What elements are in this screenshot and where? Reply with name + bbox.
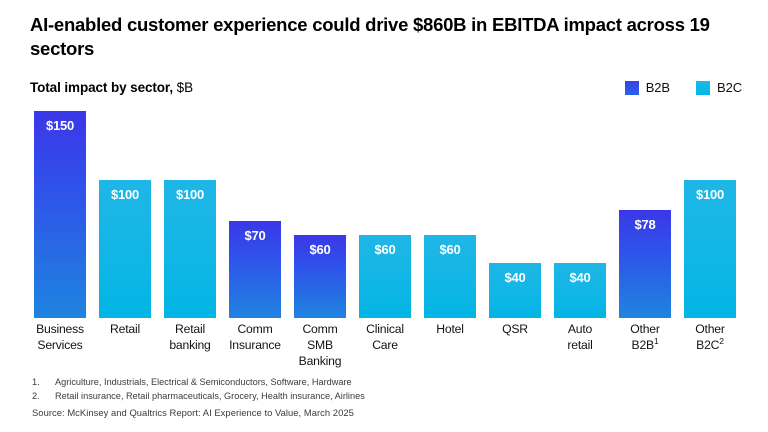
bar-column: $78: [619, 210, 671, 318]
bar-value-label: $100: [164, 187, 216, 202]
x-axis-label: CommSMBBanking: [294, 321, 346, 370]
bar-column: $100: [684, 180, 736, 318]
chart-subtitle-text: Total impact by sector,: [30, 80, 177, 95]
bar-column: $60: [359, 235, 411, 318]
bar[interactable]: $60: [294, 235, 346, 318]
footnote-item: 2.Retail insurance, Retail pharmaceutica…: [32, 389, 732, 403]
bar[interactable]: $100: [684, 180, 736, 318]
page-title: AI-enabled customer experience could dri…: [30, 13, 730, 61]
footnote-number: 1.: [32, 375, 55, 389]
bar-column: $100: [164, 180, 216, 318]
bar[interactable]: $40: [489, 263, 541, 318]
chart-page: AI-enabled customer experience could dri…: [0, 0, 768, 432]
bar[interactable]: $150: [34, 111, 86, 318]
x-axis-label: Retailbanking: [164, 321, 216, 370]
x-axis-label: Autoretail: [554, 321, 606, 370]
bar-series-container: $150$100$100$70$60$60$60$40$40$78$100: [34, 106, 746, 318]
x-axis-label: BusinessServices: [34, 321, 86, 370]
bar-value-label: $100: [99, 187, 151, 202]
legend-item-b2b[interactable]: B2B: [625, 80, 670, 95]
legend-swatch-icon-b2c: [696, 81, 710, 95]
bar-value-label: $60: [294, 242, 346, 257]
x-axis-label: ClinicalCare: [359, 321, 411, 370]
bar[interactable]: $60: [359, 235, 411, 318]
bar-column: $40: [554, 263, 606, 318]
bar-value-label: $40: [554, 270, 606, 285]
bar[interactable]: $60: [424, 235, 476, 318]
bar-value-label: $70: [229, 228, 281, 243]
footnote-text: Agriculture, Industrials, Electrical & S…: [55, 375, 352, 389]
bar-column: $40: [489, 263, 541, 318]
x-axis-label: Hotel: [424, 321, 476, 370]
bar-column: $100: [99, 180, 151, 318]
legend-item-b2c[interactable]: B2C: [696, 80, 742, 95]
chart-subtitle: Total impact by sector, $B: [30, 80, 193, 95]
footnote-item: 1.Agriculture, Industrials, Electrical &…: [32, 375, 732, 389]
footnote-number: 2.: [32, 389, 55, 403]
bar-value-label: $60: [359, 242, 411, 257]
bar-value-label: $78: [619, 217, 671, 232]
bar-value-label: $40: [489, 270, 541, 285]
x-axis-labels: BusinessServicesRetailRetailbankingCommI…: [34, 321, 746, 370]
bar[interactable]: $100: [164, 180, 216, 318]
bar[interactable]: $78: [619, 210, 671, 318]
bar-column: $70: [229, 221, 281, 318]
bar[interactable]: $70: [229, 221, 281, 318]
legend-label-b2c: B2C: [717, 80, 742, 95]
footnote-text: Retail insurance, Retail pharmaceuticals…: [55, 389, 365, 403]
chart-legend: B2B B2C: [625, 80, 742, 95]
bar-column: $60: [294, 235, 346, 318]
bar-value-label: $150: [34, 118, 86, 133]
x-axis-label: CommInsurance: [229, 321, 281, 370]
x-axis-label: OtherB2B1: [619, 321, 671, 370]
bar-column: $150: [34, 111, 86, 318]
chart-plot-area: $150$100$100$70$60$60$60$40$40$78$100: [34, 106, 746, 318]
x-axis-label: Retail: [99, 321, 151, 370]
x-axis-label: OtherB2C2: [684, 321, 736, 370]
x-axis-label: QSR: [489, 321, 541, 370]
bar-column: $60: [424, 235, 476, 318]
footnote-list: 1.Agriculture, Industrials, Electrical &…: [32, 375, 732, 404]
bar[interactable]: $40: [554, 263, 606, 318]
legend-swatch-icon-b2b: [625, 81, 639, 95]
bar-value-label: $60: [424, 242, 476, 257]
legend-label-b2b: B2B: [646, 80, 670, 95]
bar[interactable]: $100: [99, 180, 151, 318]
bar-value-label: $100: [684, 187, 736, 202]
source-note: Source: McKinsey and Qualtrics Report: A…: [32, 407, 354, 418]
chart-subtitle-unit: $B: [177, 80, 193, 95]
